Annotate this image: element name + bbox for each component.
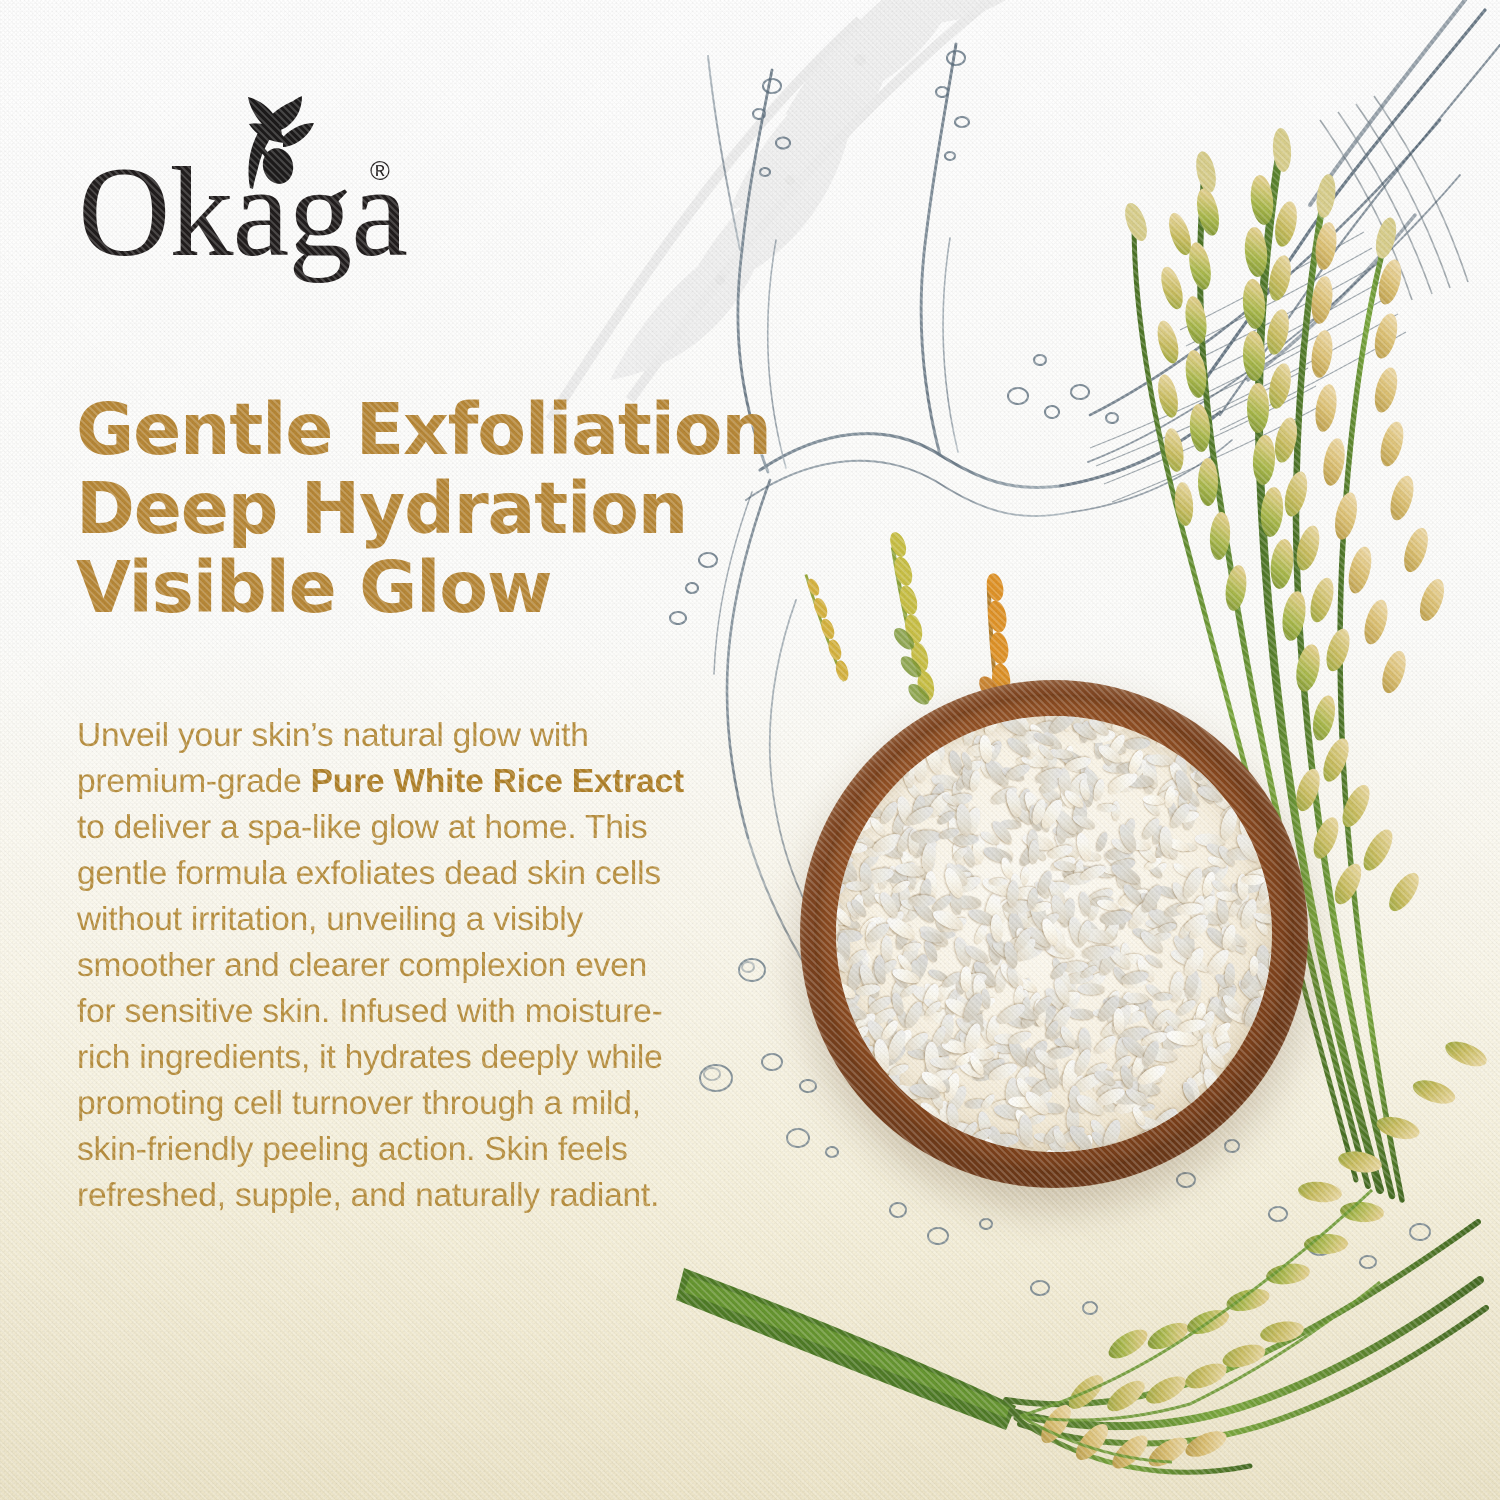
brand-name: Okaga bbox=[78, 148, 407, 276]
ingredient-highlight: Pure White Rice Extract bbox=[311, 763, 684, 800]
wooden-bowl-of-white-rice bbox=[620, 0, 1500, 1500]
product-imagery bbox=[620, 0, 1500, 1500]
headline-line-3: Visible Glow bbox=[76, 548, 836, 627]
wooden-bowl bbox=[800, 680, 1308, 1188]
rice-grains bbox=[836, 716, 1272, 1152]
product-infographic-canvas: Okaga ® Gentle Exfoliation Deep Hydratio… bbox=[0, 0, 1500, 1500]
brand-logo: Okaga ® bbox=[78, 96, 498, 256]
headline-line-1: Gentle Exfoliation bbox=[76, 390, 836, 469]
product-description: Unveil your skin’s natural glow with pre… bbox=[77, 713, 687, 1219]
description-part-2: to deliver a spa-like glow at home. This… bbox=[77, 809, 663, 1214]
bowl-interior bbox=[836, 716, 1272, 1152]
page-title: Gentle Exfoliation Deep Hydration Visibl… bbox=[76, 390, 836, 627]
headline-line-2: Deep Hydration bbox=[76, 469, 836, 548]
registered-trademark-symbol: ® bbox=[370, 156, 390, 187]
